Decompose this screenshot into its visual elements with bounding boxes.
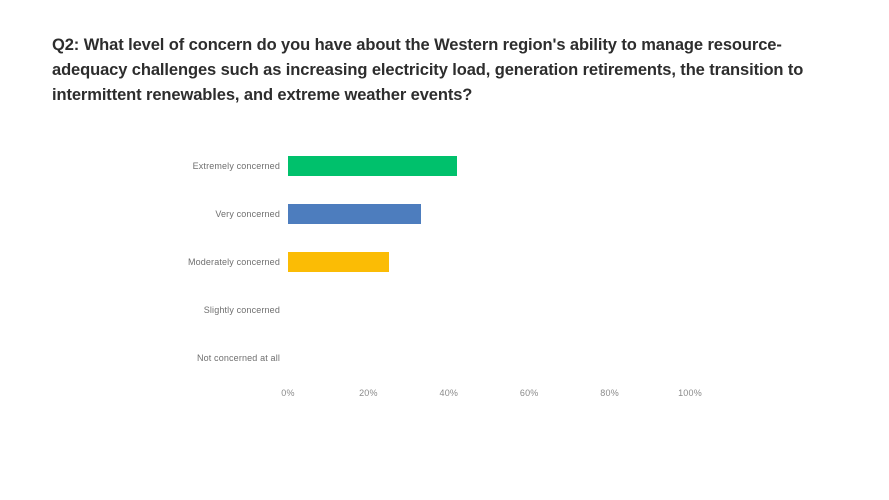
bar-row: Very concerned bbox=[288, 204, 690, 224]
bar-row: Slightly concerned bbox=[288, 300, 690, 320]
bar-category-label: Moderately concerned bbox=[188, 257, 280, 267]
page-title: Q2: What level of concern do you have ab… bbox=[52, 33, 842, 108]
x-axis: 0%20%40%60%80%100% bbox=[288, 388, 690, 408]
bar-segment bbox=[288, 204, 421, 224]
slide-canvas: Q2: What level of concern do you have ab… bbox=[0, 0, 889, 500]
bar-row: Not concerned at all bbox=[288, 348, 690, 368]
bar-category-label: Extremely concerned bbox=[193, 161, 280, 171]
x-axis-tick-label: 100% bbox=[678, 388, 702, 398]
bar-category-label: Slightly concerned bbox=[204, 305, 280, 315]
bar-row: Extremely concerned bbox=[288, 156, 690, 176]
bar-chart: Extremely concernedVery concernedModerat… bbox=[0, 140, 889, 420]
bar-segment bbox=[288, 156, 457, 176]
bar-segment bbox=[288, 252, 389, 272]
x-axis-tick-label: 80% bbox=[600, 388, 619, 398]
x-axis-tick-label: 0% bbox=[281, 388, 294, 398]
bar-category-label: Very concerned bbox=[215, 209, 280, 219]
x-axis-tick-label: 20% bbox=[359, 388, 378, 398]
bar-category-label: Not concerned at all bbox=[197, 353, 280, 363]
x-axis-tick-label: 60% bbox=[520, 388, 539, 398]
bar-row: Moderately concerned bbox=[288, 252, 690, 272]
plot-area: Extremely concernedVery concernedModerat… bbox=[288, 148, 690, 388]
x-axis-tick-label: 40% bbox=[439, 388, 458, 398]
